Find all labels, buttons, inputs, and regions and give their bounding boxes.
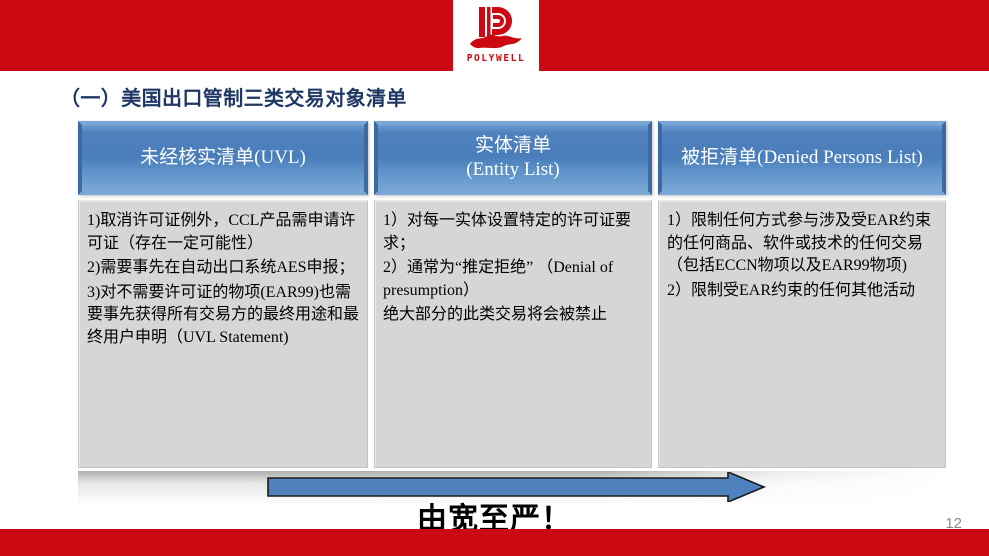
list-item: 2）通常为“推定拒绝” （Denial of presumption） xyxy=(383,257,643,302)
list-item: 1)取消许可证例外，CCL产品需申请许可证（存在一定可能性） xyxy=(87,210,359,255)
table-header-row: 未经核实清单(UVL) 1)取消许可证例外，CCL产品需申请许可证（存在一定可能… xyxy=(78,121,946,468)
table-column-denied-persons-list: 被拒清单(Denied Persons List) 1）限制任何方式参与涉及受E… xyxy=(658,121,946,468)
column-body-denied-persons-list: 1）限制任何方式参与涉及受EAR约束的任何商品、软件或技术的任何交易（包括ECC… xyxy=(658,200,946,468)
comparison-table: 未经核实清单(UVL) 1)取消许可证例外，CCL产品需申请许可证（存在一定可能… xyxy=(78,121,946,471)
page-title: （一）美国出口管制三类交易对象清单 xyxy=(60,82,407,111)
column-header-line: 未经核实清单(UVL) xyxy=(140,146,306,170)
column-header-line: 被拒清单(Denied Persons List) xyxy=(681,146,923,170)
column-body-uvl: 1)取消许可证例外，CCL产品需申请许可证（存在一定可能性） 2)需要事先在自动… xyxy=(78,200,368,468)
list-item: 绝大部分的此类交易将会被禁止 xyxy=(383,304,643,327)
list-item: 1）对每一实体设置特定的许可证要求； xyxy=(383,210,643,255)
column-header-denied-persons-list: 被拒清单(Denied Persons List) xyxy=(658,121,946,195)
table-column-entity-list: 实体清单 (Entity List) 1）对每一实体设置特定的许可证要求； 2）… xyxy=(374,121,652,468)
column-header-line: (Entity List) xyxy=(466,158,559,182)
slide-canvas: POLYWELL （一）美国出口管制三类交易对象清单 未经核实清单(UVL) 1… xyxy=(0,0,989,556)
list-item: 1）限制任何方式参与涉及受EAR约束的任何商品、软件或技术的任何交易（包括ECC… xyxy=(667,210,937,278)
list-item: 2）限制受EAR约束的任何其他活动 xyxy=(667,280,937,303)
bottom-red-banner xyxy=(0,529,989,556)
column-header-entity-list: 实体清单 (Entity List) xyxy=(374,121,652,195)
table-column-uvl: 未经核实清单(UVL) 1)取消许可证例外，CCL产品需申请许可证（存在一定可能… xyxy=(78,121,368,468)
brand-wordmark: POLYWELL xyxy=(467,54,526,64)
column-body-entity-list: 1）对每一实体设置特定的许可证要求； 2）通常为“推定拒绝” （Denial o… xyxy=(374,200,652,468)
column-header-line: 实体清单 xyxy=(466,134,559,158)
polywell-logo-icon xyxy=(466,2,526,54)
column-header-uvl: 未经核实清单(UVL) xyxy=(78,121,368,195)
brand-logo: POLYWELL xyxy=(453,0,539,71)
list-item: 2)需要事先在自动出口系统AES申报； xyxy=(87,257,359,280)
list-item: 3)对不需要许可证的物项(EAR99)也需要事先获得所有交易方的最终用途和最终用… xyxy=(87,282,359,350)
